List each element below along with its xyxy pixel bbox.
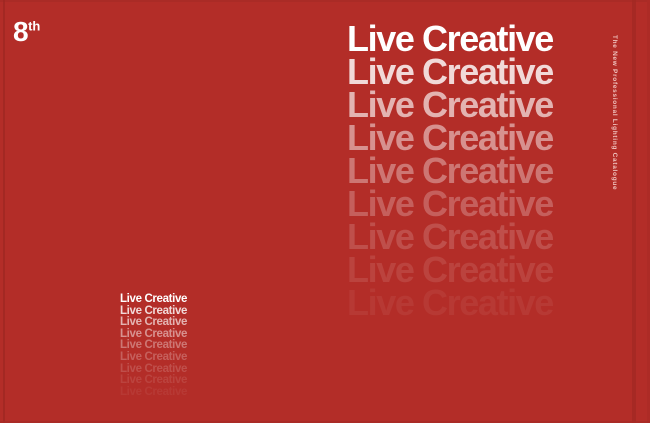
edition-number: 8 — [13, 16, 28, 47]
catalogue-strapline: The New Professional Lighting Catalogue — [611, 35, 618, 185]
headline-stack-small: Live CreativeLive CreativeLive CreativeL… — [120, 294, 230, 398]
headline-line: Live Creative — [120, 294, 230, 306]
headline-line: Live Creative — [120, 352, 230, 364]
edition-ordinal-suffix: th — [28, 19, 40, 34]
headline-line: Live Creative — [120, 375, 230, 387]
headline-line: Live Creative — [347, 286, 597, 319]
edition-badge: 8th — [13, 18, 40, 46]
headline-stack-main: Live CreativeLive CreativeLive CreativeL… — [347, 22, 597, 319]
top-edge-band — [0, 0, 650, 2]
headline-line: Live Creative — [120, 387, 230, 399]
catalogue-cover: 8th Live CreativeLive CreativeLive Creat… — [0, 0, 650, 423]
right-edge-rule — [632, 0, 636, 423]
left-edge-rule — [3, 0, 5, 423]
